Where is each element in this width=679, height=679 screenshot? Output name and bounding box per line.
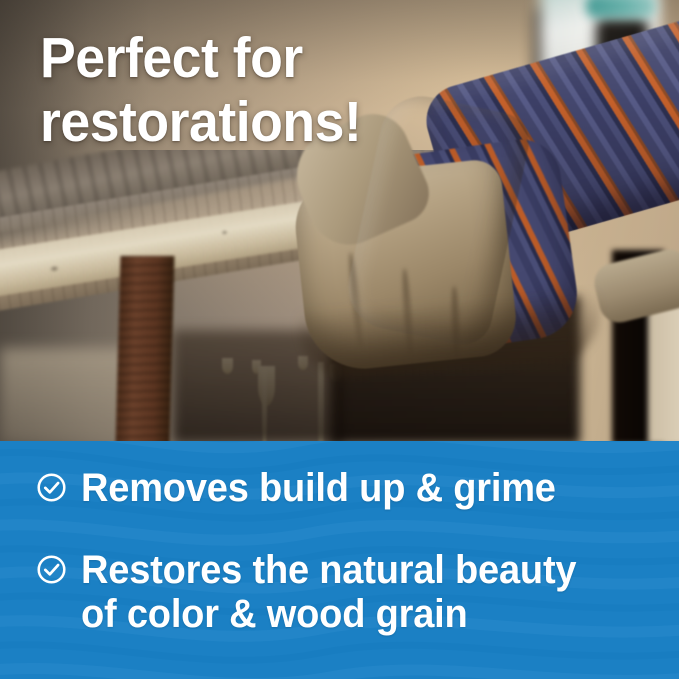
jar-lid: [586, 0, 656, 18]
check-circle-icon: [36, 554, 67, 585]
background-wall: [648, 300, 679, 441]
benefits-panel: Removes build up & grime Restores the na…: [0, 441, 679, 679]
benefit-text: Restores the natural beauty of color & w…: [81, 548, 576, 636]
benefit-text: Removes build up & grime: [81, 466, 556, 510]
headline: Perfect for restorations!: [40, 26, 444, 154]
product-photo: Perfect for restorations!: [0, 0, 679, 441]
list-item: Removes build up & grime: [36, 466, 581, 510]
product-feature-ad: Perfect for restorations!: [0, 0, 679, 679]
bench-leg: [116, 256, 175, 441]
check-circle-icon: [36, 472, 67, 503]
list-item: Restores the natural beauty of color & w…: [36, 548, 602, 636]
benefits-list: Removes build up & grime Restores the na…: [0, 441, 679, 679]
